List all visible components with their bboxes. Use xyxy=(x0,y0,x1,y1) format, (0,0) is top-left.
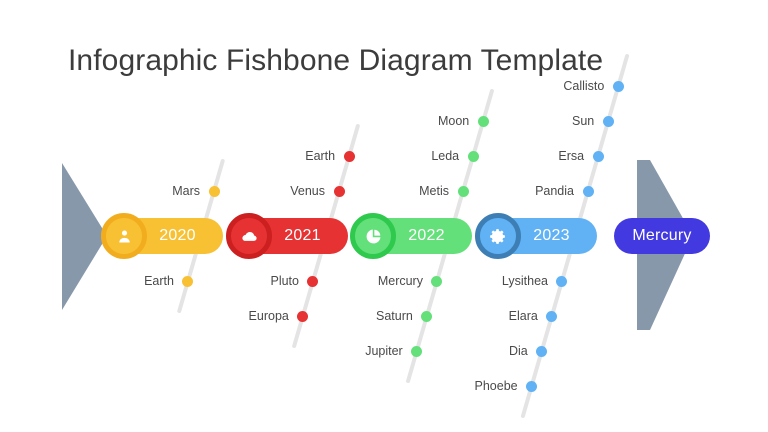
branch-label[interactable]: Lysithea xyxy=(0,274,548,288)
branch-label[interactable]: Elara xyxy=(0,309,538,323)
stage-2021[interactable]: 2021 xyxy=(235,218,348,254)
page-title: Infographic Fishbone Diagram Template xyxy=(68,44,603,78)
branch-dot[interactable] xyxy=(583,186,594,197)
stage-label: 2021 xyxy=(235,227,348,245)
stage-label: 2020 xyxy=(110,227,223,245)
branch-label[interactable]: Pandia xyxy=(0,184,574,198)
stage-2020[interactable]: 2020 xyxy=(110,218,223,254)
branch-dot[interactable] xyxy=(613,81,624,92)
stage-2022[interactable]: 2022 xyxy=(359,218,472,254)
branch-label[interactable]: Sun xyxy=(0,114,594,128)
branch-dot[interactable] xyxy=(526,381,537,392)
head-pill-mercury[interactable]: Mercury xyxy=(614,218,710,254)
branch-dot[interactable] xyxy=(603,116,614,127)
branch-dot[interactable] xyxy=(546,311,557,322)
branch-label[interactable]: Dia xyxy=(0,344,528,358)
branch-dot[interactable] xyxy=(556,276,567,287)
stage-2023[interactable]: 2023 xyxy=(484,218,597,254)
branch-label[interactable]: Callisto xyxy=(0,79,604,93)
head-label: Mercury xyxy=(614,227,710,245)
branch-dot[interactable] xyxy=(536,346,547,357)
stage-label: 2022 xyxy=(359,227,472,245)
stage-label: 2023 xyxy=(484,227,597,245)
branch-label[interactable]: Ersa xyxy=(0,149,584,163)
fishbone-diagram-canvas: Infographic Fishbone Diagram Template Ma… xyxy=(0,0,768,432)
branch-dot[interactable] xyxy=(593,151,604,162)
branch-label[interactable]: Phoebe xyxy=(0,379,518,393)
